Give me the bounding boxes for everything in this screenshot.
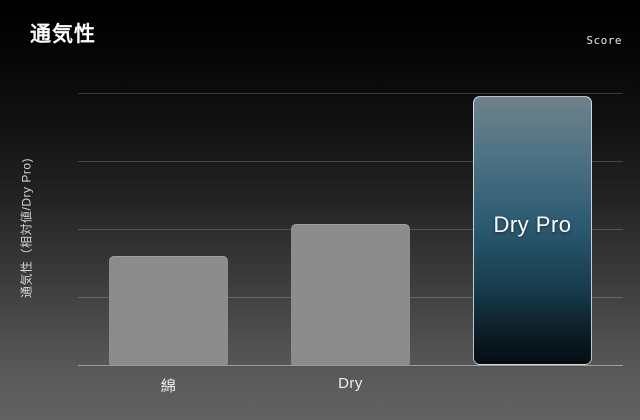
bar-inner-label: Dry Pro — [474, 212, 591, 238]
gridline-100 — [78, 93, 623, 94]
page-title: 通気性 — [30, 24, 96, 45]
x-tick-label-綿: 綿 — [109, 375, 228, 396]
y-axis-title: 通気性（相対値/Dry Pro) — [18, 158, 35, 298]
bar-綿[interactable] — [109, 256, 228, 365]
bar-Dry[interactable] — [291, 224, 410, 365]
chart-canvas: 通気性 Score 通気性（相対値/Dry Pro) 0255075100綿Dr… — [0, 0, 640, 420]
x-tick-label-Dry: Dry — [291, 375, 410, 392]
gridline-0 — [78, 365, 623, 366]
plot-area: 0255075100綿DryDry Pro — [78, 93, 623, 365]
bar-Dry Pro[interactable]: Dry Pro — [473, 96, 592, 365]
legend-score-label: Score — [586, 34, 622, 47]
